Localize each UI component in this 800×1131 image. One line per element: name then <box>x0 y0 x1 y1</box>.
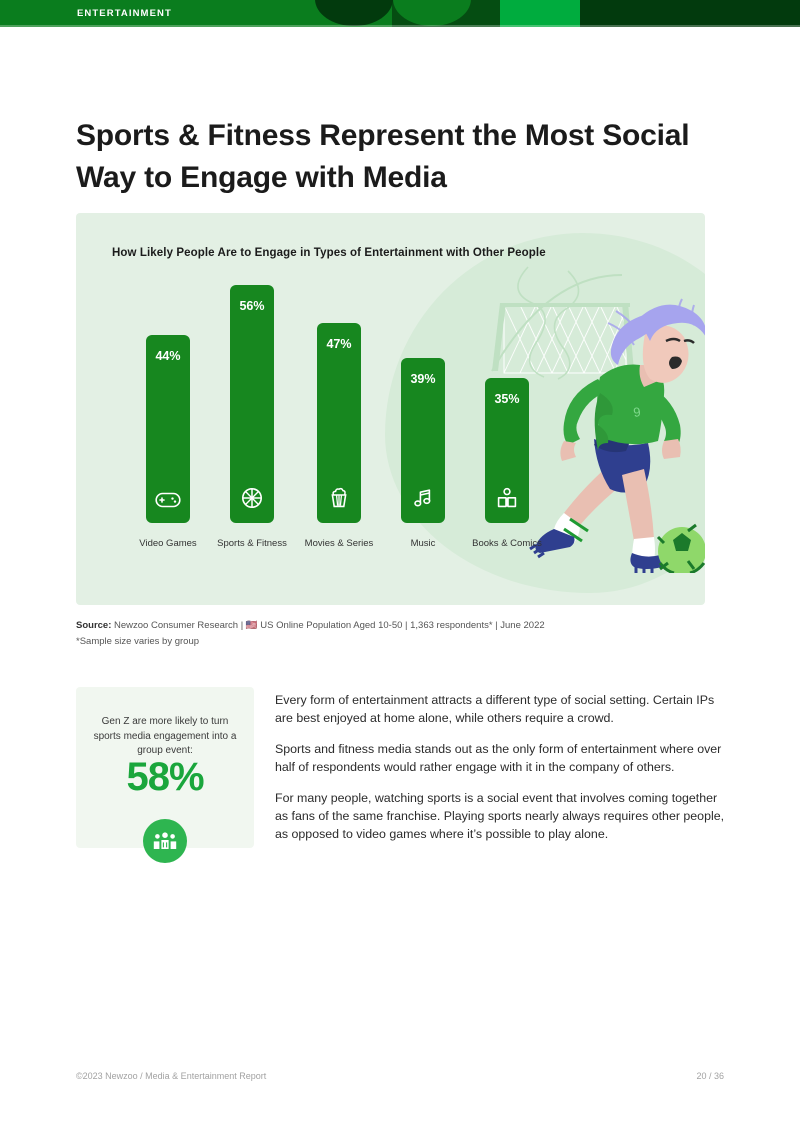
page-title: Sports & Fitness Represent the Most Soci… <box>76 115 716 199</box>
open-book-icon <box>485 487 529 509</box>
bar-books-comics[interactable]: 35% <box>485 378 529 523</box>
header-accent-block-3 <box>500 0 580 27</box>
bar-value-sports-fitness: 56% <box>230 299 274 313</box>
bar-value-music: 39% <box>401 372 445 386</box>
body-paragraph-2: Sports and fitness media stands out as t… <box>275 740 727 777</box>
game-controller-icon <box>146 491 190 509</box>
source-line: Source: Newzoo Consumer Research | 🇺🇸 US… <box>76 618 545 634</box>
callout-description: Gen Z are more likely to turn sports med… <box>92 715 238 759</box>
group-of-people-icon <box>143 819 187 863</box>
footer-copyright: ©2023 Newzoo / Media & Entertainment Rep… <box>76 1071 266 1081</box>
body-copy: Every form of entertainment attracts a d… <box>275 691 727 856</box>
soccer-ball <box>658 525 705 573</box>
header-underline <box>0 25 800 27</box>
callout-stat-value: 58% <box>76 755 254 800</box>
header-accent-block-4 <box>580 0 800 27</box>
bar-movies-series[interactable]: 47% <box>317 323 361 523</box>
bar-sports-fitness[interactable]: 56% <box>230 285 274 523</box>
bar-value-movies-series: 47% <box>317 337 361 351</box>
bar-music[interactable]: 39% <box>401 358 445 523</box>
chart-panel: How Likely People Are to Engage in Types… <box>76 213 705 605</box>
source-note: *Sample size varies by group <box>76 636 199 647</box>
stat-callout-card: Gen Z are more likely to turn sports med… <box>76 687 254 848</box>
bar-chart: 44% Video Games 56% Sports & Fitness 47% <box>112 293 582 563</box>
category-label-books-comics: Books & Comics <box>447 538 567 549</box>
popcorn-icon <box>317 487 361 509</box>
music-note-icon <box>401 487 445 509</box>
body-paragraph-1: Every form of entertainment attracts a d… <box>275 691 727 728</box>
source-text: Newzoo Consumer Research | 🇺🇸 US Online … <box>111 620 544 631</box>
top-header-bar: ENTERTAINMENT <box>0 0 800 27</box>
basketball-icon <box>230 487 274 509</box>
bar-value-video-games: 44% <box>146 349 190 363</box>
footer-page-number: 20 / 36 <box>696 1071 724 1081</box>
body-paragraph-3: For many people, watching sports is a so… <box>275 789 727 844</box>
bar-value-books-comics: 35% <box>485 392 529 406</box>
bar-video-games[interactable]: 44% <box>146 335 190 523</box>
source-label: Source: <box>76 620 111 631</box>
header-eyebrow-label: ENTERTAINMENT <box>77 8 172 19</box>
